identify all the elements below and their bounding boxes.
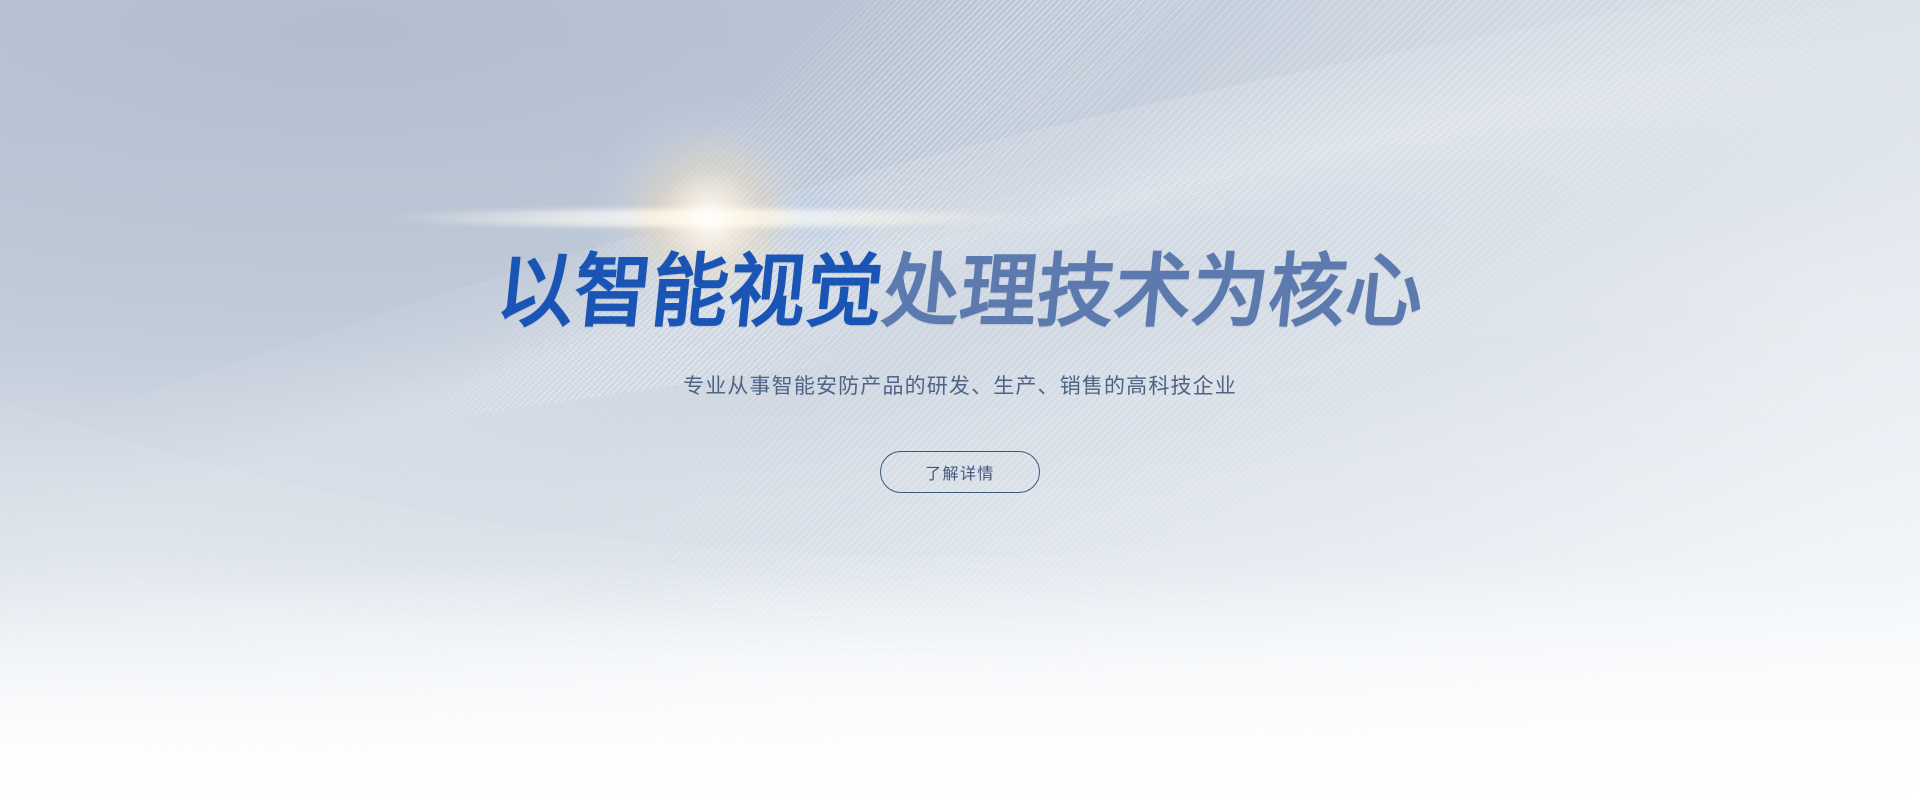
- bottom-fade: [0, 560, 1920, 800]
- headline-segment-secondary: 处理技术为核心: [878, 245, 1428, 338]
- lens-flare-streak: [380, 209, 1040, 227]
- page-title: 以智能视觉处理技术为核心: [493, 252, 1427, 332]
- lens-flare-cool-glow: [724, 184, 874, 254]
- hero-banner: 以智能视觉处理技术为核心 专业从事智能安防产品的研发、生产、销售的高科技企业 了…: [0, 0, 1920, 800]
- hero-content: 以智能视觉处理技术为核心 专业从事智能安防产品的研发、生产、销售的高科技企业 了…: [0, 0, 1920, 800]
- page-subtitle: 专业从事智能安防产品的研发、生产、销售的高科技企业: [683, 372, 1237, 401]
- learn-more-button[interactable]: 了解详情: [880, 451, 1040, 493]
- wave-band-bottom: [0, 470, 1920, 800]
- headline-segment-primary: 以智能视觉: [492, 245, 887, 338]
